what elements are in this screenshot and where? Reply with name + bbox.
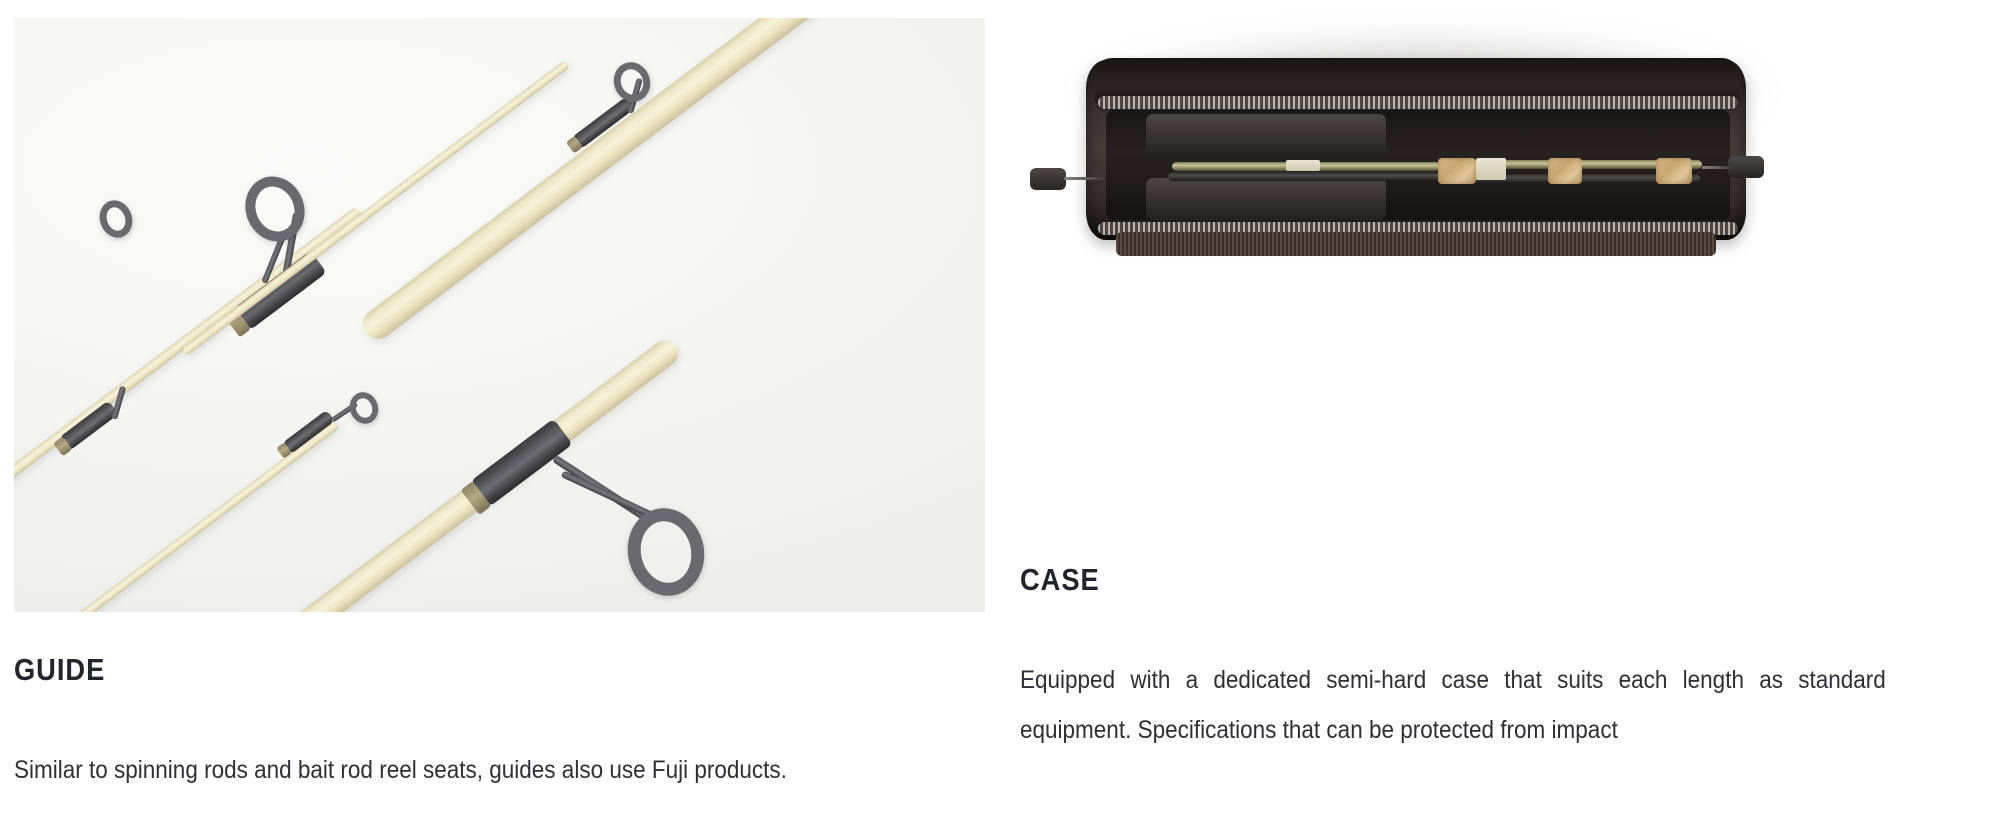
case-fabric-lining [1116, 232, 1716, 256]
feature-column-guide: GUIDE Similar to spinning rods and bait … [14, 0, 985, 827]
product-feature-page: GUIDE Similar to spinning rods and bait … [0, 0, 2000, 827]
case-zipper-pull-wire-left [1064, 177, 1106, 180]
feature-column-case: CASE Equipped with a dedicated semi-hard… [1020, 0, 1982, 827]
case-description: Equipped with a dedicated semi-hard case… [1020, 655, 1886, 755]
case-foam-pad-bottom [1146, 178, 1386, 220]
case-cork-grip-1 [1438, 158, 1476, 184]
case-rod-blank-1 [1172, 162, 1472, 171]
case-rod-label-1 [1286, 160, 1320, 171]
case-zipper-pull-wire-right [1702, 166, 1732, 169]
case-rod-label-2 [1476, 158, 1506, 180]
case-zipper-pull-left [1030, 168, 1066, 190]
case-product-image [1020, 0, 1982, 400]
case-zipper-pull-right [1728, 156, 1764, 178]
case-cork-grip-2 [1548, 158, 1582, 184]
photo-backdrop [14, 18, 985, 612]
case-cork-grip-3 [1656, 158, 1692, 184]
case-zipper-top [1098, 96, 1738, 109]
guide-description: Similar to spinning rods and bait rod re… [14, 745, 806, 795]
case-rod-blank-2 [1168, 172, 1480, 181]
case-heading: CASE [1020, 562, 1100, 598]
guide-heading: GUIDE [14, 652, 105, 688]
case-foam-pad-top [1146, 114, 1386, 158]
guide-product-image [14, 18, 985, 612]
